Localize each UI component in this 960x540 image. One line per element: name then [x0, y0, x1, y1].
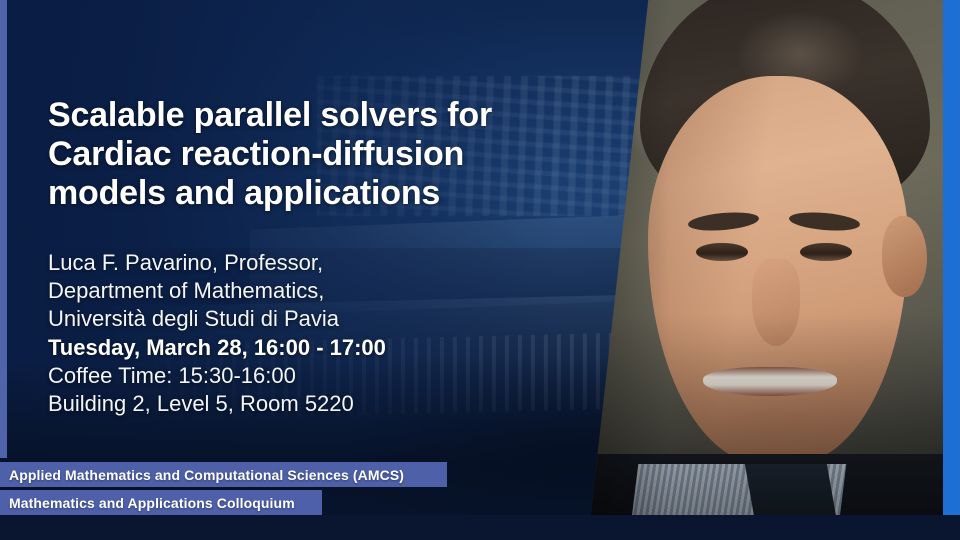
- banner-series: Mathematics and Applications Colloquium: [0, 490, 322, 515]
- left-accent-stripe: [0, 0, 7, 458]
- banner-program-label: Applied Mathematics and Computational Sc…: [0, 467, 404, 483]
- seminar-poster: Scalable parallel solvers for Cardiac re…: [0, 0, 960, 540]
- portrait-vignette: [588, 0, 960, 540]
- poster-text-block: Scalable parallel solvers for Cardiac re…: [48, 96, 578, 418]
- footer-strip: [0, 515, 960, 540]
- speaker-details: Luca F. Pavarino, Professor, Department …: [48, 249, 578, 418]
- speaker-portrait: [588, 0, 960, 540]
- detail-line-university: Università degli Studi di Pavia: [48, 305, 578, 333]
- title-line: Cardiac reaction-diffusion: [48, 135, 578, 174]
- banner-program: Applied Mathematics and Computational Sc…: [0, 462, 447, 487]
- page-title: Scalable parallel solvers for Cardiac re…: [48, 96, 578, 213]
- banner-series-label: Mathematics and Applications Colloquium: [0, 495, 295, 511]
- portrait-right-blue-band: [943, 0, 960, 540]
- title-line: Scalable parallel solvers for: [48, 96, 578, 135]
- detail-line-location: Building 2, Level 5, Room 5220: [48, 390, 578, 418]
- title-line: models and applications: [48, 174, 578, 213]
- detail-line-coffee-time: Coffee Time: 15:30-16:00: [48, 362, 578, 390]
- detail-line-datetime: Tuesday, March 28, 16:00 - 17:00: [48, 334, 578, 362]
- detail-line-department: Department of Mathematics,: [48, 277, 578, 305]
- detail-line-speaker: Luca F. Pavarino, Professor,: [48, 249, 578, 277]
